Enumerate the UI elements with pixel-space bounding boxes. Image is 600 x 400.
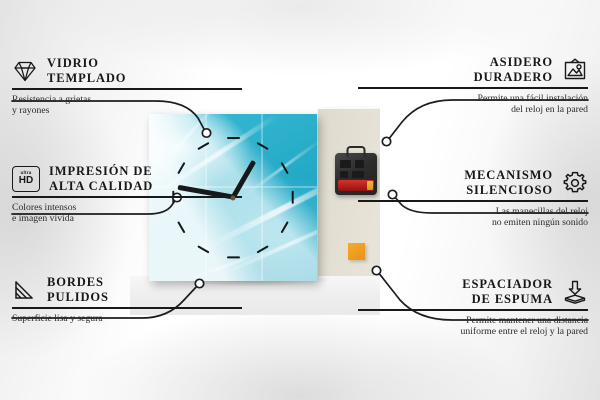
picture-frame-hanger-icon: [562, 57, 588, 83]
feature-title-line1: BORDES: [47, 275, 104, 290]
feature-desc-line1: Colores intensos: [12, 202, 242, 214]
hd-icon-main-text: HD: [19, 176, 33, 186]
feature-desc-line1: Permite mantener una distancia: [358, 315, 588, 327]
mechanism-hanger-icon: [347, 146, 366, 157]
mechanism-detail: [340, 171, 348, 178]
feature-title-line2: TEMPLADO: [47, 71, 126, 86]
feature-divider: [12, 88, 242, 90]
feature-desc-line2: uniforme entre el reloj y la pared: [358, 326, 588, 338]
feature-bordes-pulidos: BORDES PULIDOS Superficie lisa y segura: [12, 275, 242, 324]
feature-desc-line1: Resistencia a grietas: [12, 94, 242, 106]
feature-titles: ESPACIADOR DE ESPUMA: [462, 277, 553, 306]
feature-heading-row: ultra HD IMPRESIÓN DE ALTA CALIDAD: [12, 164, 242, 193]
feature-titles: BORDES PULIDOS: [47, 275, 109, 304]
feature-espaciador-espuma: ESPACIADOR DE ESPUMA Permite mantener un…: [358, 277, 588, 338]
feature-titles: ASIDERO DURADERO: [474, 55, 553, 84]
feature-titles: IMPRESIÓN DE ALTA CALIDAD: [49, 164, 153, 193]
mechanism-detail: [340, 160, 351, 168]
clock-tick: [227, 256, 240, 258]
clock-center-pin: [231, 195, 236, 200]
feature-divider: [358, 200, 588, 202]
feature-divider: [358, 87, 588, 89]
feature-titles: MECANISMO SILENCIOSO: [464, 168, 553, 197]
feature-vidrio-templado: VIDRIO TEMPLADO Resistencia a grietas y …: [12, 56, 242, 117]
feature-desc-line1: Superficie lisa y segura: [12, 313, 242, 325]
feature-titles: VIDRIO TEMPLADO: [47, 56, 126, 85]
feature-title-line2: SILENCIOSO: [466, 183, 553, 198]
mechanism-detail: [355, 160, 364, 168]
feature-heading-row: ESPACIADOR DE ESPUMA: [358, 277, 588, 306]
feature-desc-line2: y rayones: [12, 105, 242, 117]
arrow-onto-pad-icon: [562, 279, 588, 305]
feature-divider: [358, 309, 588, 311]
feature-mecanismo-silencioso: MECANISMO SILENCIOSO Las manecillas del …: [358, 168, 588, 229]
gear-icon: [562, 170, 588, 196]
feature-title-line1: ESPACIADOR: [462, 277, 553, 292]
feature-title-line2: DE ESPUMA: [472, 292, 553, 307]
glass-reflection-line: [261, 114, 263, 281]
feature-heading-row: BORDES PULIDOS: [12, 275, 242, 304]
diamond-icon: [12, 58, 38, 84]
ultra-hd-icon: ultra HD: [12, 166, 40, 192]
foam-spacer: [348, 243, 365, 260]
feature-impresion-alta-calidad: ultra HD IMPRESIÓN DE ALTA CALIDAD Color…: [12, 164, 242, 225]
beveled-edge-icon: [12, 277, 38, 303]
clock-tick: [291, 191, 293, 204]
feature-title-line2: ALTA CALIDAD: [49, 179, 153, 194]
feature-title-line2: DURADERO: [474, 70, 553, 85]
feature-desc-line2: del reloj en la pared: [358, 104, 588, 116]
feature-title-line1: IMPRESIÓN DE: [49, 164, 153, 179]
feature-title-line1: MECANISMO: [464, 168, 553, 183]
feature-heading-row: VIDRIO TEMPLADO: [12, 56, 242, 85]
infographic-canvas: VIDRIO TEMPLADO Resistencia a grietas y …: [0, 0, 600, 400]
feature-desc-line2: e imagen vívida: [12, 213, 242, 225]
feature-divider: [12, 196, 242, 198]
feature-divider: [12, 307, 242, 309]
feature-heading-row: MECANISMO SILENCIOSO: [358, 168, 588, 197]
feature-title-line1: ASIDERO: [490, 55, 553, 70]
connector-node-asidero: [382, 137, 390, 145]
feature-desc-line1: Permite una fácil instalación: [358, 93, 588, 105]
feature-desc-line1: Las manecillas del reloj: [358, 206, 588, 218]
feature-desc-line2: no emiten ningún sonido: [358, 217, 588, 229]
feature-title-line2: PULIDOS: [47, 290, 109, 305]
feature-asidero-duradero: ASIDERO DURADERO Permite una fácil insta…: [358, 55, 588, 116]
feature-title-line1: VIDRIO: [47, 56, 99, 71]
feature-heading-row: ASIDERO DURADERO: [358, 55, 588, 84]
